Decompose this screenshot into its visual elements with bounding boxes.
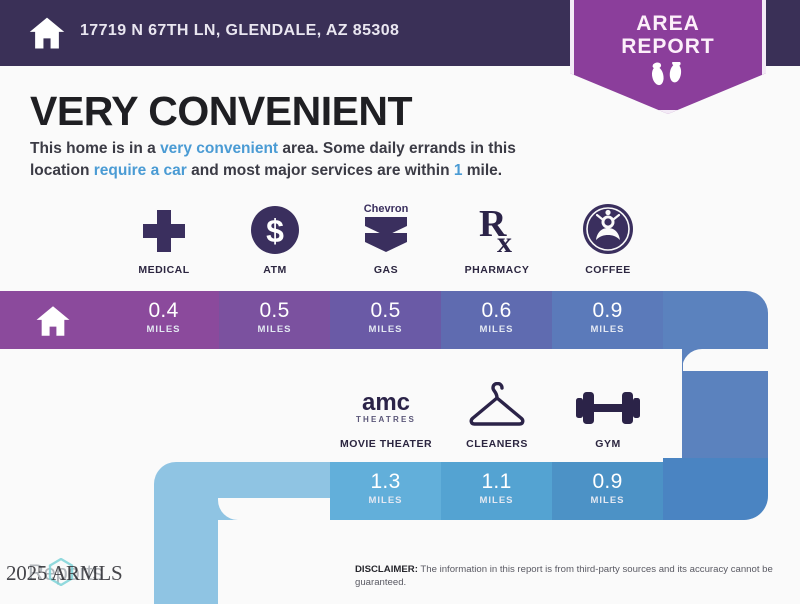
- svg-text:x: x: [497, 226, 512, 256]
- gym-icon-box: [552, 374, 664, 430]
- amc-theatres-icon: amc THEATRES: [351, 386, 421, 430]
- segment-value: 0.9: [552, 299, 663, 323]
- cleaners-icon-box: [441, 374, 553, 430]
- movie-icon-box: amc THEATRES: [330, 374, 442, 430]
- coffee-icon-box: [552, 200, 664, 256]
- watermark-armls: 2025 ARMLS: [6, 561, 122, 586]
- category-label: PHARMACY: [441, 264, 553, 276]
- category-label: MEDICAL: [108, 264, 220, 276]
- ribbon-home-marker: [0, 291, 108, 349]
- area-report-badge: AREA REPORT: [570, 0, 766, 114]
- badge-line-1: AREA: [574, 12, 762, 36]
- ribbon-inner-notch-bottom: [218, 498, 330, 520]
- ribbon-inner-notch-top: [682, 349, 768, 371]
- desc-part-1: This home is in a: [30, 140, 160, 157]
- category-label: MOVIE THEATER: [330, 438, 442, 450]
- disclaimer: DISCLAIMER: The information in this repo…: [355, 563, 775, 590]
- category-pharmacy: R x PHARMACY: [441, 200, 553, 276]
- desc-highlight-2: require a car: [94, 162, 187, 179]
- segment-unit: MILES: [219, 324, 330, 335]
- ribbon-vertical-left-lower: [154, 520, 218, 604]
- page-title: VERY CONVENIENT: [30, 88, 412, 135]
- category-gym: GYM: [552, 374, 664, 450]
- segment-value: 1.3: [330, 470, 441, 494]
- ribbon-tail-bottom-right: [663, 458, 768, 520]
- rx-prescription-icon: R x: [471, 202, 523, 256]
- category-label: ATM: [219, 264, 331, 276]
- ribbon-segment-gym: 0.9 MILES: [552, 462, 663, 520]
- ribbon-segment-gas: 0.5 MILES: [330, 291, 441, 349]
- segment-value: 0.5: [219, 299, 330, 323]
- starbucks-siren-icon: [581, 202, 635, 256]
- area-report-page: 17719 N 67TH LN, GLENDALE, AZ 85308 AREA…: [0, 0, 800, 604]
- medical-icon-box: [108, 200, 220, 256]
- category-label: GAS: [330, 264, 442, 276]
- category-coffee: COFFEE: [552, 200, 664, 276]
- segment-unit: MILES: [552, 324, 663, 335]
- house-icon: [34, 304, 72, 338]
- segment-unit: MILES: [330, 324, 441, 335]
- segment-unit: MILES: [330, 495, 441, 506]
- ribbon-elbow-top-right: [663, 291, 768, 349]
- amc-wordmark: amc: [362, 389, 410, 416]
- clothes-hanger-icon: [468, 382, 526, 430]
- ribbon-edge-guard: [682, 349, 683, 458]
- ribbon-segment-movie-theater: 1.3 MILES: [330, 462, 441, 520]
- svg-text:$: $: [266, 213, 284, 249]
- desc-highlight-1: very convenient: [160, 140, 278, 157]
- footprints-icon: [645, 62, 691, 88]
- segment-unit: MILES: [108, 324, 219, 335]
- medical-cross-icon: [139, 206, 189, 256]
- category-atm: $ ATM: [219, 200, 331, 276]
- atm-icon-box: $: [219, 200, 331, 256]
- ribbon-segment-atm: 0.5 MILES: [219, 291, 330, 349]
- amc-sub-wordmark: THEATRES: [356, 415, 416, 424]
- category-gas: Chevron GAS: [330, 200, 442, 276]
- chevron-wordmark: Chevron: [364, 203, 409, 215]
- category-label: COFFEE: [552, 264, 664, 276]
- segment-value: 0.5: [330, 299, 441, 323]
- desc-part-4: mile.: [462, 162, 502, 179]
- badge-line-2: REPORT: [574, 36, 762, 58]
- segment-unit: MILES: [552, 495, 663, 506]
- category-label: CLEANERS: [441, 438, 553, 450]
- category-cleaners: CLEANERS: [441, 374, 553, 450]
- chevron-logo-icon: Chevron: [360, 200, 412, 256]
- category-label: GYM: [552, 438, 664, 450]
- ribbon-segment-pharmacy: 0.6 MILES: [441, 291, 552, 349]
- dumbbell-icon: [576, 386, 640, 430]
- page-description: This home is in a very convenient area. …: [30, 138, 575, 182]
- ribbon-segment-coffee: 0.9 MILES: [552, 291, 663, 349]
- dollar-circle-icon: $: [249, 204, 301, 256]
- segment-value: 0.9: [552, 470, 663, 494]
- segment-unit: MILES: [441, 324, 552, 335]
- house-icon: [28, 14, 66, 52]
- segment-unit: MILES: [441, 495, 552, 506]
- pharmacy-icon-box: R x: [441, 200, 553, 256]
- property-address: 17719 N 67TH LN, GLENDALE, AZ 85308: [80, 22, 399, 40]
- gas-icon-box: Chevron: [330, 200, 442, 256]
- disclaimer-text: The information in this report is from t…: [355, 564, 773, 588]
- desc-part-3: and most major services are within: [187, 162, 454, 179]
- segment-value: 0.4: [108, 299, 219, 323]
- segment-value: 1.1: [441, 470, 552, 494]
- ribbon-segment-medical: 0.4 MILES: [108, 291, 219, 349]
- category-medical: MEDICAL: [108, 200, 220, 276]
- category-movie-theater: amc THEATRES MOVIE THEATER: [330, 374, 442, 450]
- ribbon-segment-cleaners: 1.1 MILES: [441, 462, 552, 520]
- segment-value: 0.6: [441, 299, 552, 323]
- disclaimer-label: DISCLAIMER:: [355, 564, 418, 575]
